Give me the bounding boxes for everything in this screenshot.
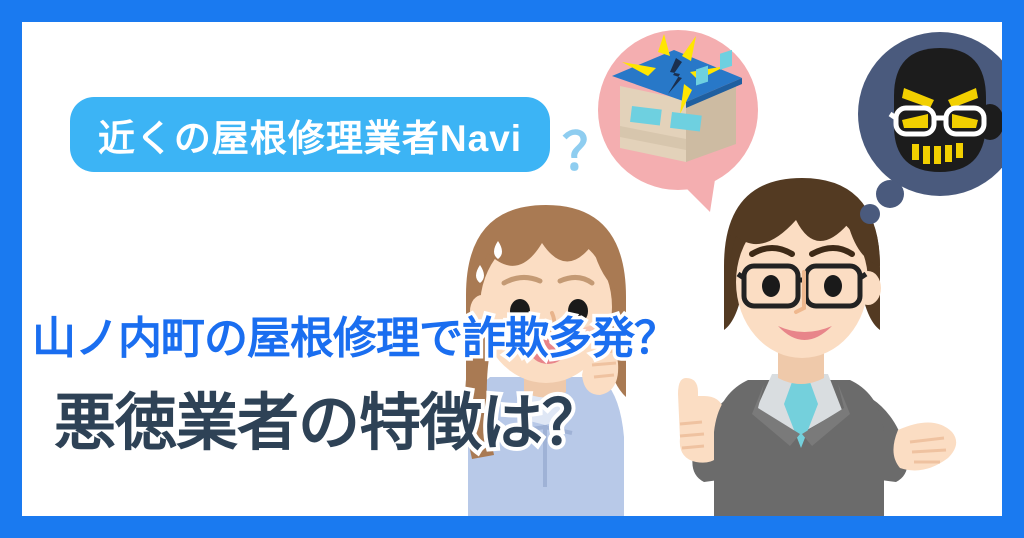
question-mark-decoration: ？ <box>562 127 614 179</box>
pink-speech-bubble <box>590 22 770 222</box>
brand-badge[interactable]: 近くの屋根修理業者Navi <box>70 97 550 172</box>
villain-thought-bubble <box>842 22 1002 222</box>
banner-frame: 近くの屋根修理業者Navi ？ 山ノ内町の屋根修理で詐欺多発？ 悪徳業者の特徴は… <box>0 0 1024 538</box>
headline-primary: 山ノ内町の屋根修理で詐欺多発？ <box>32 302 677 366</box>
banner-canvas: 近くの屋根修理業者Navi ？ 山ノ内町の屋根修理で詐欺多発？ 悪徳業者の特徴は… <box>22 22 1002 516</box>
thought-dot-small <box>860 204 880 224</box>
open-hand <box>893 422 956 470</box>
thought-dot-large <box>876 180 904 208</box>
brand-badge-label: 近くの屋根修理業者Navi <box>98 108 522 162</box>
headline-secondary: 悪徳業者の特徴は？ <box>54 372 603 462</box>
